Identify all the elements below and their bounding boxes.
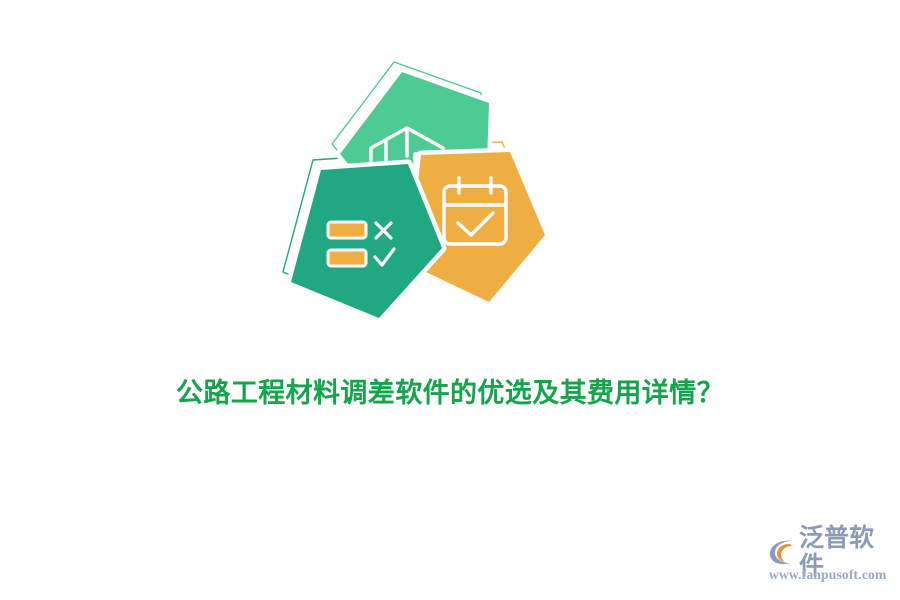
hero-illustration xyxy=(265,50,555,335)
page-root: 公路工程材料调差软件的优选及其费用详情？ 泛普软件 www.fanpusoft.… xyxy=(0,0,900,600)
brand-url: www.fanpusoft.com xyxy=(768,567,886,583)
brand-logo: 泛普软件 www.fanpusoft.com xyxy=(768,536,894,586)
page-title: 公路工程材料调差软件的优选及其费用详情？ xyxy=(0,371,900,410)
fanpu-logo-icon xyxy=(768,538,796,566)
checklist-pentagon xyxy=(291,164,442,318)
brand-logo-row: 泛普软件 xyxy=(768,536,894,568)
